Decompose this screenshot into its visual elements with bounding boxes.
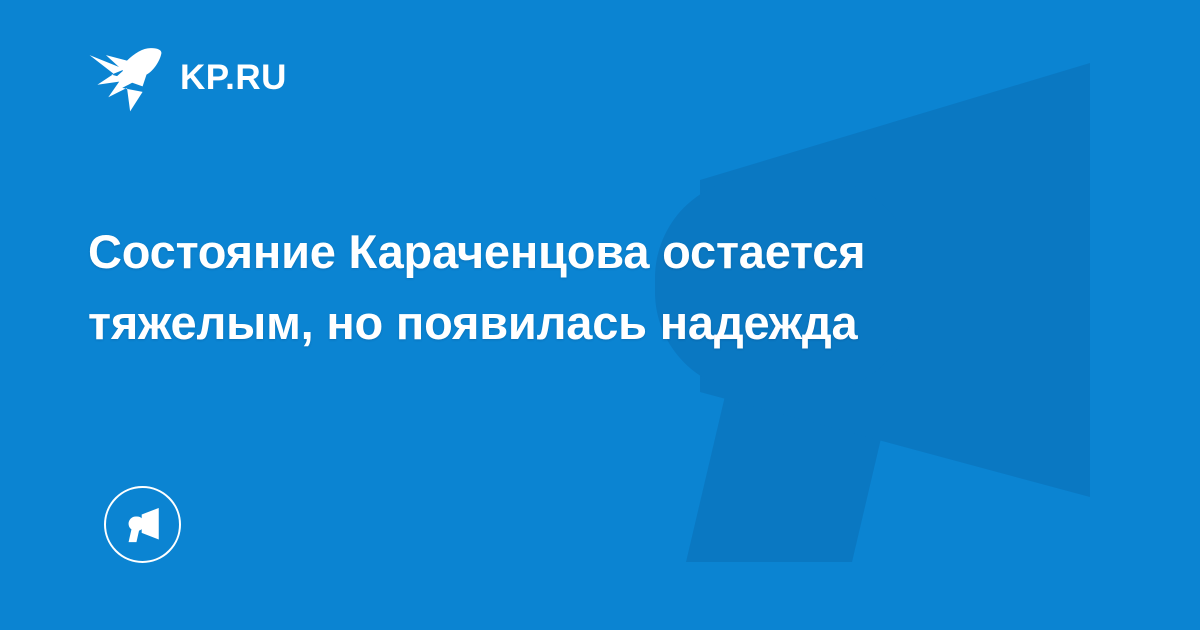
page-title: Состояние Караченцова остается тяжелым, … [88,216,1098,359]
share-card: KP.RU Состояние Караченцова остается тяж… [0,0,1200,630]
megaphone-icon [122,504,164,546]
brand-name: KP.RU [180,60,287,95]
status-badge[interactable] [104,486,181,563]
swallow-bird-icon [88,38,166,116]
brand[interactable]: KP.RU [88,38,287,116]
